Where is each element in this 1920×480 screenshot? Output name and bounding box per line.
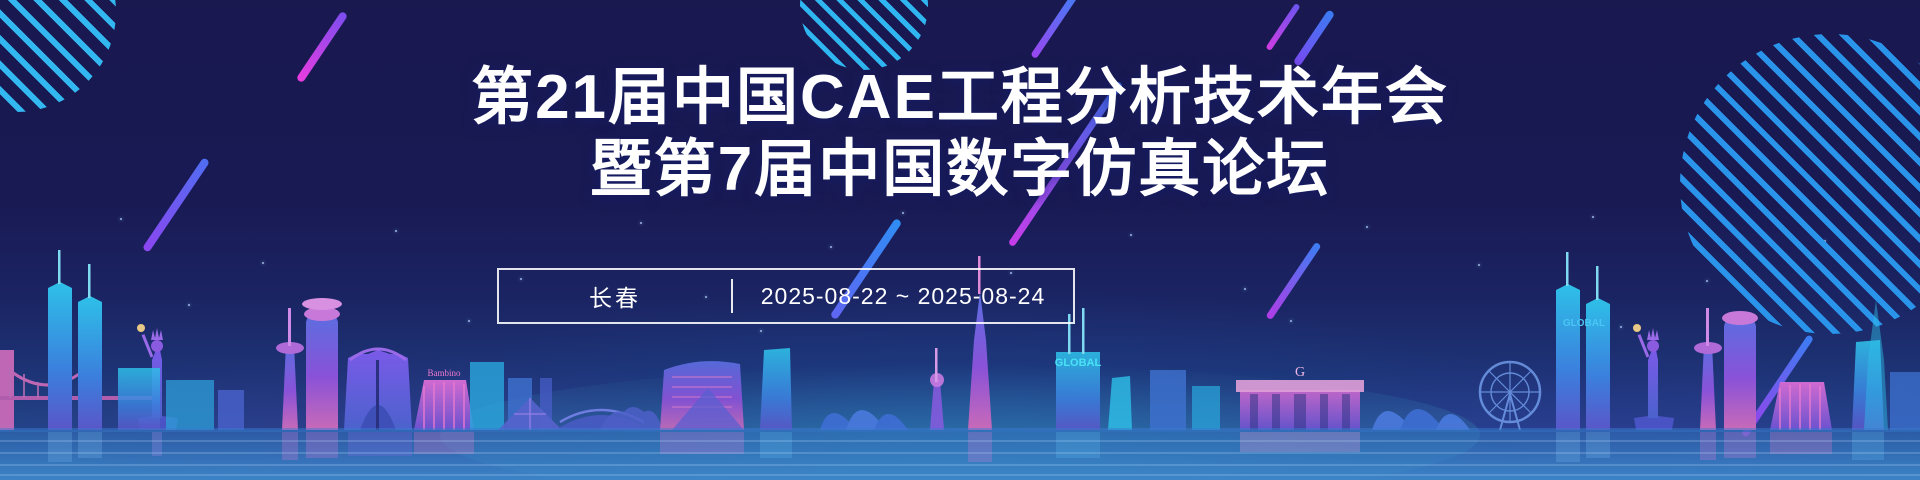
title-line-2: 暨第7届中国数字仿真论坛 — [0, 134, 1920, 206]
banner-title: 第21届中国CAE工程分析技术年会 暨第7届中国数字仿真论坛 — [0, 62, 1920, 206]
svg-text:GLOBAL: GLOBAL — [1563, 318, 1605, 329]
svg-text:GLOBAL: GLOBAL — [1055, 357, 1102, 369]
svg-text:G: G — [1295, 365, 1305, 380]
svg-text:Bambino: Bambino — [428, 368, 461, 378]
event-date-range: 2025-08-22 ~ 2025-08-24 — [733, 283, 1073, 310]
title-line-1: 第21届中国CAE工程分析技术年会 — [0, 62, 1920, 134]
event-city: 长春 — [499, 279, 731, 313]
conference-banner: Bambino — [0, 0, 1920, 480]
event-info-box: 长春 2025-08-22 ~ 2025-08-24 — [497, 268, 1075, 324]
